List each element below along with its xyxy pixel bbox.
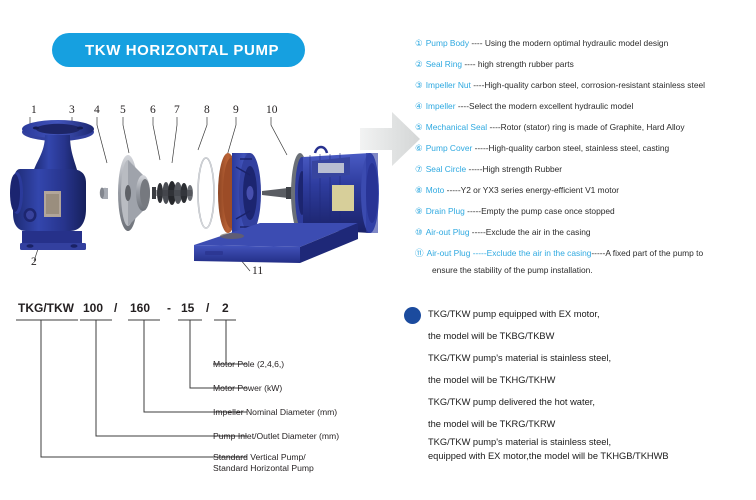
legend-key: Pump Cover <box>426 143 473 153</box>
legend-key: Impeller <box>426 101 456 111</box>
legend-item-10: ⑩Air-out Plug -----Exclude the air in th… <box>415 222 756 243</box>
model-seg-5: 15 <box>181 301 195 315</box>
legend-desc: -----High strength Rubber <box>466 164 562 174</box>
callout-3: 3 <box>69 104 75 116</box>
model-label-2: Impeller Nominal Diameter (mm) <box>213 407 337 417</box>
model-label-1: Motor Power (kW) <box>213 383 282 393</box>
part-baseplate <box>194 223 358 263</box>
legend-number: ⑪ <box>415 248 424 258</box>
callout-5: 5 <box>120 104 126 116</box>
legend-item-9: ⑨Drain Plug -----Empty the pump case onc… <box>415 201 756 222</box>
note-line-2: the model will be TKBG/TKBW <box>428 325 756 347</box>
note-line-3: TKG/TKW pump's material is stainless ste… <box>428 347 756 369</box>
model-code-labels: Motor Pole (2,4,6,) Motor Power (kW) Imp… <box>213 359 339 473</box>
model-label-4: Standard Vertical Pump/ <box>213 452 306 462</box>
legend-item-8: ⑧Moto -----Y2 or YX3 series energy-effic… <box>415 180 756 201</box>
model-variant-notes: TKG/TKW pump equipped with EX motor, the… <box>404 303 756 463</box>
callout-4: 4 <box>94 104 100 116</box>
legend-desc: ----Rotor (stator) ring is made of Graph… <box>487 122 684 132</box>
callout-8: 8 <box>204 104 210 116</box>
legend-number: ⑥ <box>415 143 423 153</box>
legend-item-1: ①Pump Body ---- Using the modern optimal… <box>415 33 756 54</box>
pump-product-sheet: TKW HORIZONTAL PUMP <box>0 0 756 500</box>
note-line-1: TKG/TKW pump equipped with EX motor, <box>428 303 756 325</box>
legend-desc: ----High-quality carbon steel, corrosion… <box>471 80 705 90</box>
legend-desc: -----Y2 or YX3 series energy-efficient V… <box>444 185 619 195</box>
parts-legend: ①Pump Body ---- Using the modern optimal… <box>415 33 756 276</box>
legend-key: Air-out Plug -----Exclude the air in the… <box>427 248 592 258</box>
legend-number: ⑤ <box>415 122 423 132</box>
part-seal-circle <box>198 158 214 228</box>
legend-number: ① <box>415 38 423 48</box>
model-code-designation: TKG/TKW 100 / 160 - 15 / 2 <box>0 295 400 500</box>
legend-item-3: ③Impeller Nut ----High-quality carbon st… <box>415 75 756 96</box>
legend-number: ② <box>415 59 423 69</box>
legend-item-11-continuation: ensure the stability of the pump install… <box>415 264 756 276</box>
model-seg-4: - <box>167 301 171 315</box>
page-title: TKW HORIZONTAL PUMP <box>52 42 279 59</box>
part-pump-body <box>10 120 94 250</box>
legend-key: Drain Plug <box>426 206 465 216</box>
model-seg-6: / <box>206 301 210 315</box>
part-impeller <box>118 155 150 231</box>
legend-key: Mechanical Seal <box>426 122 487 132</box>
legend-item-2: ②Seal Ring ---- high strength rubber par… <box>415 54 756 75</box>
callout-1: 1 <box>31 104 37 116</box>
legend-desc: ---- high strength rubber parts <box>462 59 574 69</box>
model-code-string: TKG/TKW 100 / 160 - 15 / 2 <box>18 301 229 315</box>
model-seg-0: TKG/TKW <box>18 301 75 315</box>
part-impeller-nut <box>100 188 108 200</box>
callout-9: 9 <box>233 104 239 116</box>
model-seg-2: / <box>114 301 118 315</box>
legend-key: Impeller Nut <box>426 80 471 90</box>
legend-key: Moto <box>426 185 445 195</box>
legend-item-11: ⑪Air-out Plug -----Exclude the air in th… <box>415 243 756 264</box>
bullet-dot-icon <box>404 307 421 324</box>
note-line-6: the model will be TKRG/TKRW <box>428 413 756 435</box>
exploded-pump-diagram: 1 3 4 5 6 7 8 9 10 2 11 <box>0 95 400 290</box>
legend-number: ⑩ <box>415 227 423 237</box>
callout-6: 6 <box>150 104 156 116</box>
part-mechanical-seal <box>152 181 193 205</box>
legend-key: Pump Body <box>426 38 469 48</box>
legend-number: ⑦ <box>415 164 423 174</box>
legend-desc: -----High-quality carbon steel, stainles… <box>472 143 669 153</box>
legend-key: Air-out Plug <box>426 227 470 237</box>
legend-desc: -----A fixed part of the pump to <box>591 248 703 258</box>
note-line-8: equipped with EX motor,the model will be… <box>428 449 756 463</box>
model-seg-3: 160 <box>130 301 150 315</box>
legend-desc: -----Empty the pump case once stopped <box>465 206 615 216</box>
legend-item-7: ⑦Seal Circle -----High strength Rubber <box>415 159 756 180</box>
callout-2: 2 <box>31 256 37 268</box>
legend-number: ③ <box>415 80 423 90</box>
legend-item-4: ④Impeller ----Select the modern excellen… <box>415 96 756 117</box>
callout-11: 11 <box>252 265 263 277</box>
legend-desc: ---- Using the modern optimal hydraulic … <box>469 38 668 48</box>
legend-desc: -----Exclude the air in the casing <box>469 227 590 237</box>
legend-key: Seal Circle <box>426 164 467 174</box>
note-line-4: the model will be TKHG/TKHW <box>428 369 756 391</box>
callout-7: 7 <box>174 104 180 116</box>
note-line-5: TKG/TKW pump delivered the hot water, <box>428 391 756 413</box>
page-title-banner: TKW HORIZONTAL PUMP <box>52 33 305 67</box>
model-label-0: Motor Pole (2,4,6,) <box>213 359 284 369</box>
callout-10: 10 <box>266 104 278 116</box>
model-label-5: Standard Horizontal Pump <box>213 463 314 473</box>
model-seg-1: 100 <box>83 301 103 315</box>
model-seg-7: 2 <box>222 301 229 315</box>
legend-number: ⑨ <box>415 206 423 216</box>
model-label-3: Pump Inlet/Outlet Diameter (mm) <box>213 431 339 441</box>
right-arrow-icon <box>358 108 422 170</box>
note-line-7: TKG/TKW pump's material is stainless ste… <box>428 435 756 449</box>
part-pump-cover <box>218 153 261 233</box>
legend-item-6: ⑥Pump Cover -----High-quality carbon ste… <box>415 138 756 159</box>
legend-item-5: ⑤Mechanical Seal ----Rotor (stator) ring… <box>415 117 756 138</box>
legend-number: ⑧ <box>415 185 423 195</box>
legend-number: ④ <box>415 101 423 111</box>
legend-key: Seal Ring <box>426 59 462 69</box>
legend-desc: ----Select the modern excellent hydrauli… <box>456 101 634 111</box>
